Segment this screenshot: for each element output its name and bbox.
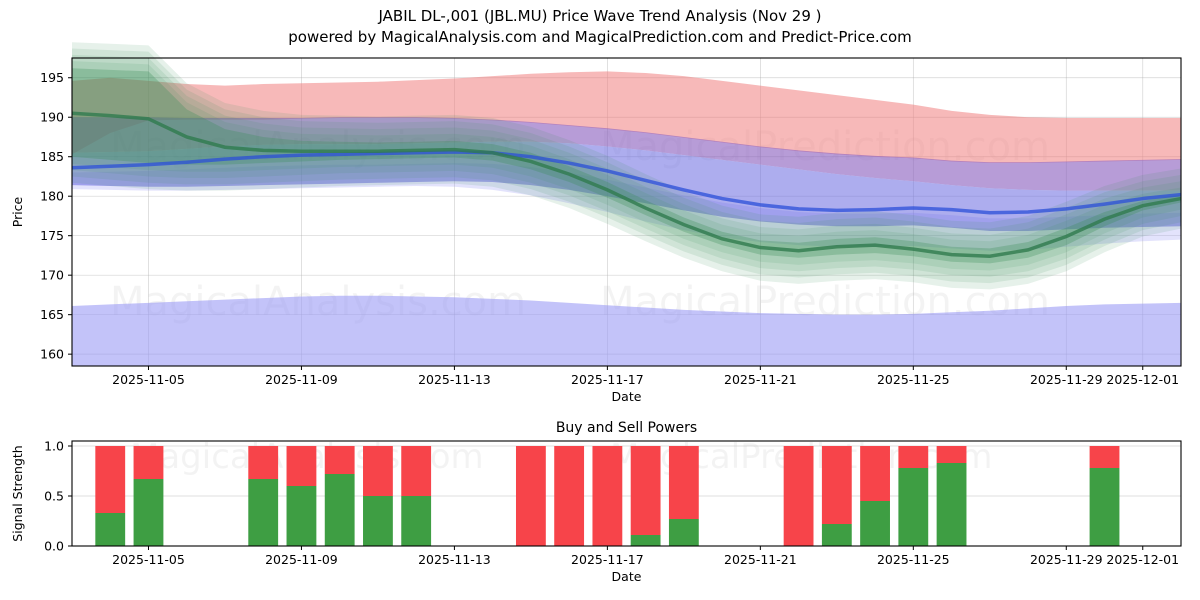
sell-power-bar bbox=[134, 446, 164, 479]
price-ytick-label: 185 bbox=[40, 149, 64, 164]
buy-power-bar bbox=[401, 496, 431, 546]
power-ytick-label: 0.0 bbox=[44, 539, 64, 554]
power-xtick-label: 2025-11-13 bbox=[418, 552, 491, 567]
sell-power-bar bbox=[401, 446, 431, 496]
sell-power-bar bbox=[937, 446, 967, 463]
buy-power-bar bbox=[1090, 468, 1120, 546]
buy-power-bar bbox=[134, 479, 164, 546]
buy-power-bar bbox=[860, 501, 890, 546]
price-ytick-label: 165 bbox=[40, 307, 64, 322]
sell-power-bar bbox=[860, 446, 890, 501]
power-xtick-label: 2025-11-09 bbox=[265, 552, 338, 567]
price-xtick-label: 2025-11-21 bbox=[724, 372, 797, 387]
sell-power-bar bbox=[325, 446, 355, 474]
sell-power-bar bbox=[898, 446, 928, 468]
price-wave-chart: MagicalAnalysis.comMagicalPrediction.com… bbox=[10, 42, 1181, 404]
buy-power-bar bbox=[248, 479, 278, 546]
buy-power-bar bbox=[287, 486, 317, 546]
price-ytick-label: 170 bbox=[40, 268, 64, 283]
power-x-axis-label: Date bbox=[612, 569, 642, 584]
power-y-axis-label: Signal Strength bbox=[10, 445, 25, 541]
sell-power-bar bbox=[669, 446, 699, 519]
charts-canvas: MagicalAnalysis.comMagicalPrediction.com… bbox=[0, 0, 1200, 600]
buy-power-bar bbox=[822, 524, 852, 546]
price-ytick-label: 160 bbox=[40, 347, 64, 362]
price-y-axis-label: Price bbox=[10, 196, 25, 227]
sell-power-bar bbox=[95, 446, 125, 513]
price-xtick-label: 2025-11-05 bbox=[112, 372, 185, 387]
price-ytick-label: 180 bbox=[40, 189, 64, 204]
price-x-axis-label: Date bbox=[612, 389, 642, 404]
sell-power-bar bbox=[363, 446, 393, 496]
buy-power-bar bbox=[631, 535, 661, 546]
buy-power-bar bbox=[363, 496, 393, 546]
buy-sell-powers-chart: Buy and Sell PowersMagicalAnalysis.comMa… bbox=[10, 420, 1181, 584]
power-xtick-label: 2025-11-21 bbox=[724, 552, 797, 567]
buy-power-bar bbox=[325, 474, 355, 546]
buy-power-bar bbox=[95, 513, 125, 546]
buy-power-bar bbox=[898, 468, 928, 546]
price-xtick-label: 2025-11-25 bbox=[877, 372, 950, 387]
buy-power-bar bbox=[937, 463, 967, 546]
power-xtick-label: 2025-11-29 bbox=[1030, 552, 1103, 567]
price-xtick-label: 2025-11-09 bbox=[265, 372, 338, 387]
sell-power-bar bbox=[516, 446, 546, 546]
power-chart-title: Buy and Sell Powers bbox=[556, 420, 697, 436]
power-ytick-label: 1.0 bbox=[44, 439, 64, 454]
price-xtick-label: 2025-11-13 bbox=[418, 372, 491, 387]
sell-power-bar bbox=[287, 446, 317, 486]
price-xtick-label: 2025-11-29 bbox=[1030, 372, 1103, 387]
price-xtick-label: 2025-12-01 bbox=[1106, 372, 1179, 387]
chart-page: JABIL DL-,001 (JBL.MU) Price Wave Trend … bbox=[0, 0, 1200, 600]
power-ytick-label: 0.5 bbox=[44, 489, 64, 504]
price-xtick-label: 2025-11-17 bbox=[571, 372, 644, 387]
sell-power-bar bbox=[1090, 446, 1120, 468]
sell-power-bar bbox=[822, 446, 852, 524]
sell-power-bar bbox=[631, 446, 661, 535]
price-ytick-label: 190 bbox=[40, 110, 64, 125]
price-ytick-label: 195 bbox=[40, 70, 64, 85]
power-xtick-label: 2025-12-01 bbox=[1106, 552, 1179, 567]
power-xtick-label: 2025-11-17 bbox=[571, 552, 644, 567]
power-xtick-label: 2025-11-05 bbox=[112, 552, 185, 567]
sell-power-bar bbox=[784, 446, 814, 546]
buy-power-bar bbox=[669, 519, 699, 546]
price-ytick-label: 175 bbox=[40, 228, 64, 243]
sell-power-bar bbox=[248, 446, 278, 479]
power-xtick-label: 2025-11-25 bbox=[877, 552, 950, 567]
sell-power-bar bbox=[592, 446, 622, 546]
sell-power-bar bbox=[554, 446, 584, 546]
